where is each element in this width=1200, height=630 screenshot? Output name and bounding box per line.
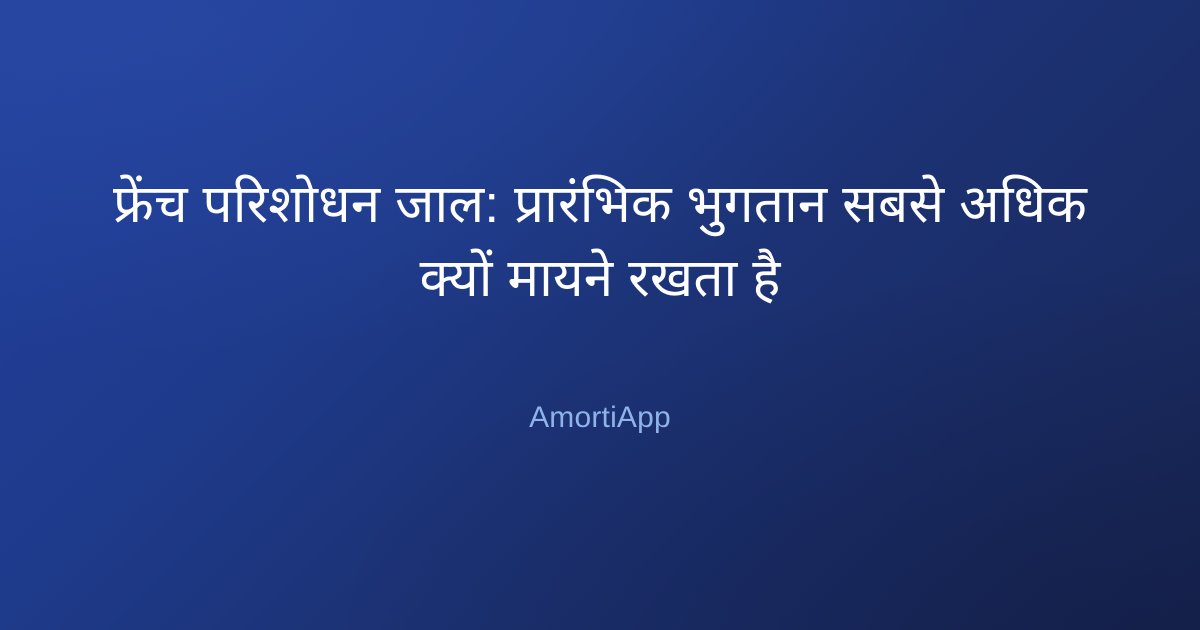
page-title: फ्रेंच परिशोधन जाल: प्रारंभिक भुगतान सबस…: [80, 168, 1120, 316]
brand-name: AmortiApp: [529, 316, 671, 436]
card-content: फ्रेंच परिशोधन जाल: प्रारंभिक भुगतान सबस…: [70, 168, 1130, 436]
share-card: फ्रेंच परिशोधन जाल: प्रारंभिक भुगतान सबस…: [0, 0, 1200, 630]
